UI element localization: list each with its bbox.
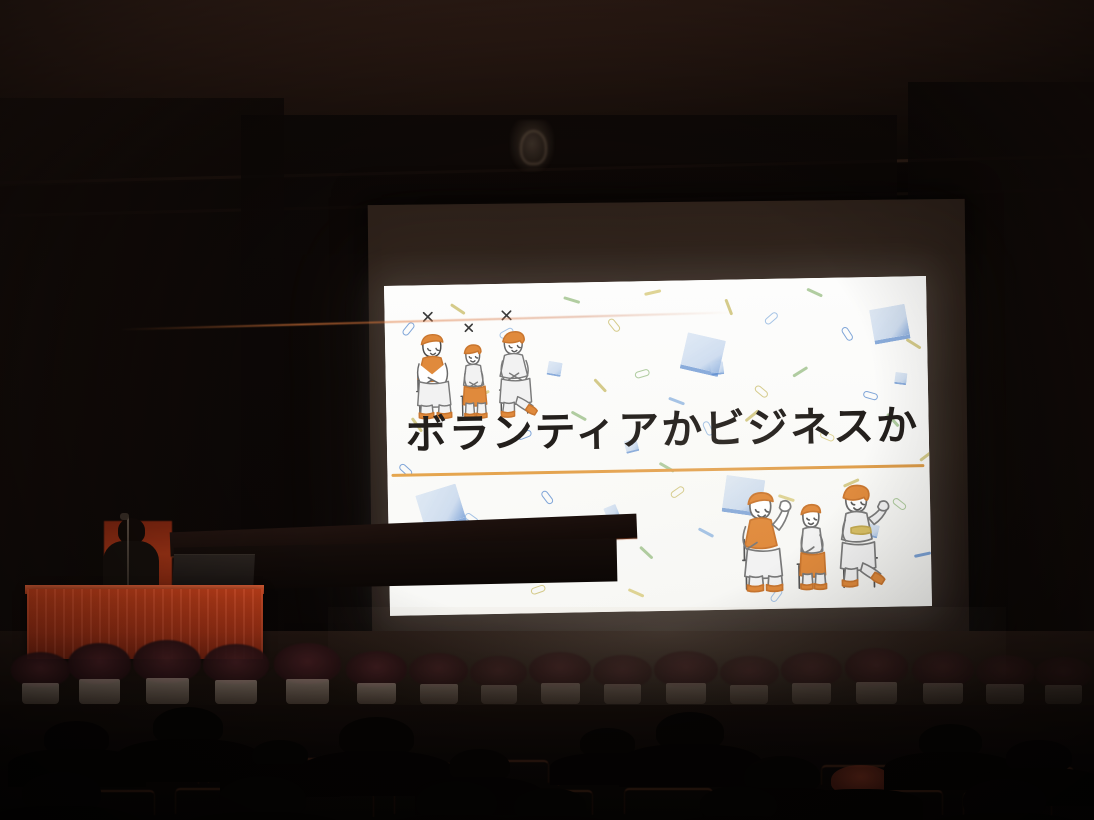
flower-pot-base	[286, 679, 329, 703]
flower-pot-base	[22, 683, 60, 703]
flower-bloom	[529, 652, 590, 687]
flower-pot-base	[1045, 685, 1081, 703]
flower-pot-base	[146, 678, 189, 703]
audience-area	[0, 705, 1094, 820]
flower-bloom	[274, 643, 342, 684]
flower-pot	[976, 657, 1035, 703]
flower-bloom	[912, 651, 973, 687]
flower-bloom	[68, 643, 131, 684]
confetti-rod	[914, 552, 931, 558]
flower-pot-base	[986, 684, 1024, 703]
audience-shoulders	[619, 744, 761, 787]
microphone-icon	[120, 513, 129, 520]
audience-head	[700, 786, 777, 820]
flower-pot	[781, 655, 842, 704]
confetti-cap	[669, 485, 685, 499]
flower-pot-base	[541, 683, 580, 703]
flower-pot	[409, 656, 468, 703]
flower-bloom	[409, 653, 468, 687]
flower-bloom	[781, 652, 842, 687]
confetti-rod	[698, 527, 714, 537]
flower-bloom	[976, 655, 1035, 688]
flower-pot	[133, 644, 201, 704]
flower-pot-base	[730, 685, 768, 704]
flower-bloom	[203, 644, 269, 684]
presenter-silhouette	[101, 518, 162, 595]
flower-bloom	[1035, 657, 1092, 688]
flower-pot	[470, 659, 527, 704]
flower-pot-base	[792, 683, 831, 703]
school-crest-icon	[510, 120, 554, 172]
flower-pot	[1035, 660, 1092, 704]
presenter-head	[118, 518, 145, 543]
flower-pot	[346, 654, 407, 704]
flower-bloom	[845, 648, 908, 686]
flower-bloom	[720, 656, 779, 688]
slide-title: ボランティアかビジネスか？	[406, 405, 910, 455]
flower-bloom	[470, 656, 527, 688]
flower-pot	[720, 659, 779, 704]
flower-pot	[11, 655, 70, 704]
flower-pot-base	[923, 683, 962, 704]
flower-pot	[593, 657, 652, 703]
flower-pot	[912, 654, 973, 704]
auditorium-photo: 第120回創立記念式 令和5年3月3日 静岡県西遠女子学園	[0, 0, 1094, 820]
flower-pot-base	[666, 683, 707, 704]
flower-pot-base	[604, 684, 642, 703]
flower-pot	[529, 655, 590, 704]
flower-pot-base	[79, 679, 120, 703]
flower-pot	[274, 646, 342, 703]
flower-pot-base	[856, 682, 897, 704]
flower-bloom	[133, 640, 201, 683]
flower-pot	[203, 647, 269, 703]
flower-bloom	[346, 651, 407, 687]
flower-pot	[68, 646, 131, 703]
illustration-raised-hands	[729, 468, 899, 603]
flower-bloom	[593, 655, 652, 688]
microphone-stand	[127, 517, 129, 595]
audience-shoulders	[799, 789, 923, 820]
flower-bloom	[11, 652, 70, 687]
flower-pot-base	[215, 680, 257, 704]
stage-flower-row	[0, 641, 1094, 703]
flower-pot-base	[357, 683, 396, 704]
flower-pot-base	[481, 685, 517, 704]
audience-shoulders	[917, 813, 1092, 820]
flower-pot	[654, 654, 717, 704]
confetti-cap	[540, 490, 554, 506]
flower-pot	[845, 651, 908, 703]
flower-bloom	[654, 651, 717, 687]
flower-pot-base	[420, 684, 458, 704]
